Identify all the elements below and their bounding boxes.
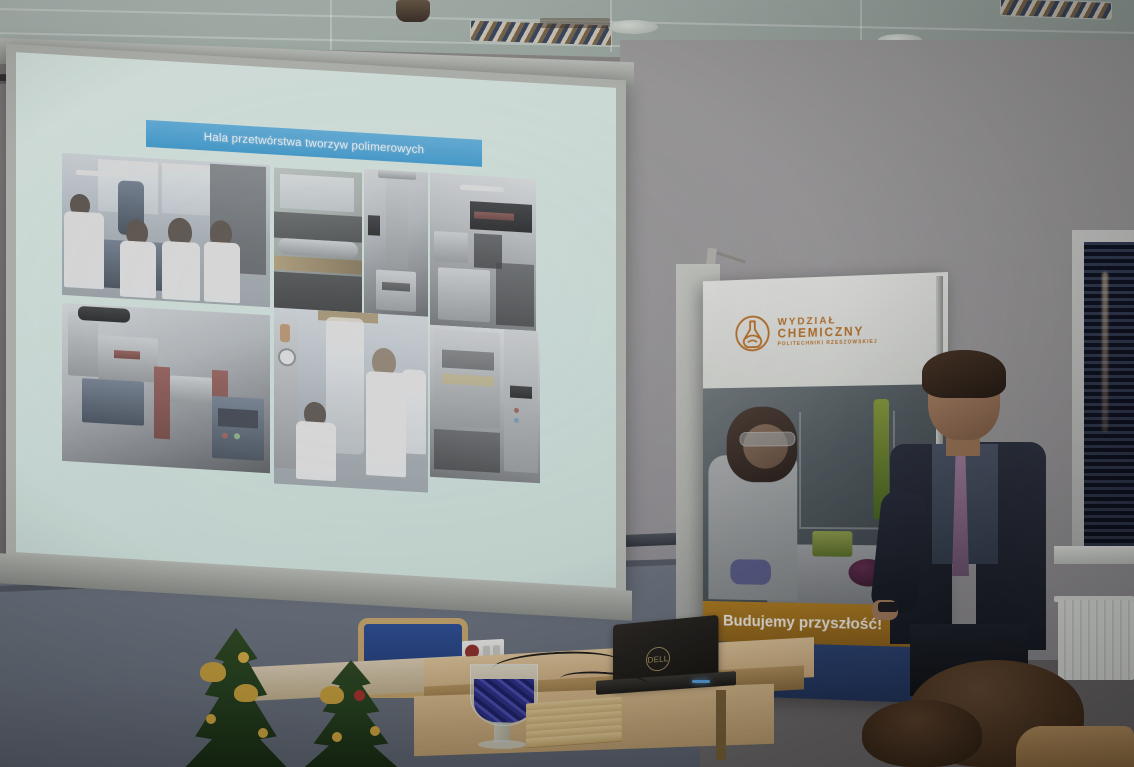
- gold-bauble: [206, 714, 216, 724]
- desk-leg: [716, 690, 726, 760]
- ceiling-speaker-icon: [396, 0, 430, 22]
- christmas-tree-left: [176, 628, 296, 767]
- slide-title-text: Hala przetwórstwa tworzyw polimerowych: [204, 131, 424, 156]
- audience-chair-back: [1016, 726, 1134, 767]
- slide-photo-film-blowing: [274, 308, 428, 493]
- laptop-led-indicator: [692, 680, 710, 683]
- ceiling-air-vent-icon: [1000, 0, 1112, 20]
- purple-glove: [730, 559, 771, 585]
- flask-icon: [734, 314, 771, 354]
- banner-slogan-text: Budujemy przyszłość!: [723, 613, 882, 634]
- slide-content: Hala przetwórstwa tworzyw polimerowych: [58, 107, 594, 551]
- presenter-remote-icon: [878, 602, 898, 612]
- gold-bauble: [258, 728, 268, 738]
- faculty-logo: WYDZIAŁ CHEMICZNY POLITECHNIKI RZESZOWSK…: [734, 310, 878, 353]
- christmas-tree-right: [296, 660, 406, 767]
- presenter-hair: [922, 350, 1006, 398]
- tree-foliage: [296, 660, 406, 767]
- ceiling-light-dome: [608, 20, 658, 34]
- bowl-foot: [478, 740, 526, 749]
- ceiling-tile-seam: [860, 0, 862, 44]
- ceiling-rail: [540, 18, 610, 28]
- radiator: [1058, 600, 1134, 680]
- slide-photo-lecturer-students: [62, 153, 270, 307]
- slide-photo-processing-hall: [430, 173, 536, 331]
- lecture-room-photo: Hala przetwórstwa tworzyw polimerowych: [0, 0, 1134, 767]
- gold-bauble: [370, 726, 380, 736]
- window-glass: [1084, 242, 1134, 548]
- slide-photo-tensile-tester: [364, 169, 428, 325]
- safety-glasses-icon: [740, 432, 796, 447]
- blue-sweets: [474, 679, 534, 723]
- logo-line-3: POLITECHNIKI RZESZOWSKIEJ: [778, 340, 878, 348]
- slide-title-bar: Hala przetwórstwa tworzyw polimerowych: [146, 120, 482, 167]
- slide-photo-calender-rolls: [274, 168, 362, 321]
- audience-member-2: [862, 700, 982, 767]
- gold-bauble: [238, 652, 249, 663]
- gold-bow: [200, 662, 226, 682]
- wooden-cards-stack: [526, 697, 626, 748]
- gold-bow: [234, 684, 258, 702]
- gold-bauble: [332, 732, 342, 742]
- presenter-speaker: [874, 352, 1080, 692]
- slide-photo-hydraulic-press: [430, 325, 540, 484]
- slide-photo-control-panel-press: [62, 303, 270, 473]
- green-sample-box: [812, 531, 852, 557]
- projection-surface: Hala przetwórstwa tworzyw polimerowych: [16, 52, 616, 588]
- logo-line-2: CHEMICZNY: [778, 325, 878, 341]
- projection-screen: Hala przetwórstwa tworzyw polimerowych: [6, 44, 626, 601]
- bowl-stem: [494, 722, 510, 742]
- window-sill: [1054, 546, 1134, 564]
- gold-bow: [320, 686, 344, 704]
- exterior-light: [1102, 272, 1108, 432]
- window-blinds: [1084, 242, 1134, 548]
- red-bauble: [354, 690, 365, 701]
